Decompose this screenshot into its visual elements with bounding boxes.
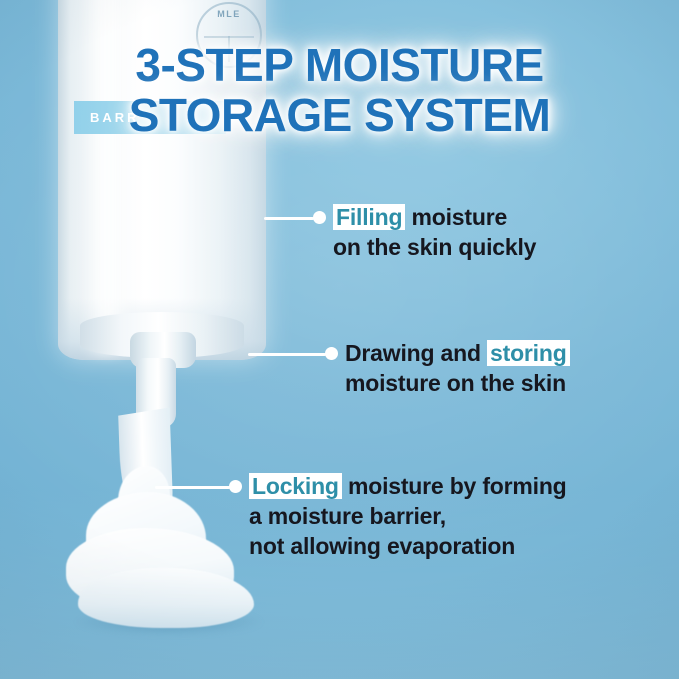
callout-3-highlight: Locking [249, 473, 342, 499]
callout-3-line-2: a moisture barrier, [249, 501, 567, 531]
callout-1-rest: moisture [405, 204, 507, 230]
leader-line-2 [248, 347, 338, 361]
leader-dot [229, 480, 242, 493]
callout-2-pre: Drawing and [345, 340, 487, 366]
leader-stroke [248, 353, 326, 356]
callout-1-highlight: Filling [333, 204, 405, 230]
callout-3-line-1: Locking moisture by forming [249, 471, 567, 501]
callout-2-line-2: moisture on the skin [345, 368, 570, 398]
callout-1-line-2: on the skin quickly [333, 232, 536, 262]
callout-1-line-1: Filling moisture [333, 202, 536, 232]
callout-step-1: Filling moisture on the skin quickly [333, 202, 536, 262]
leader-stroke [264, 217, 314, 220]
vignette-overlay [0, 0, 679, 679]
leader-line-1 [264, 211, 326, 225]
callout-3-rest: moisture by forming [342, 473, 567, 499]
callout-step-3: Locking moisture by forming a moisture b… [249, 471, 567, 561]
callout-2-line-1: Drawing and storing [345, 338, 570, 368]
callout-step-2: Drawing and storing moisture on the skin [345, 338, 570, 398]
leader-dot [313, 211, 326, 224]
promo-graphic: BARR MLE 3-STEP MOISTURE STORAGE SYSTEM … [0, 0, 679, 679]
leader-line-3 [155, 480, 242, 494]
callout-2-highlight: storing [487, 340, 570, 366]
leader-dot [325, 347, 338, 360]
callout-3-line-3: not allowing evaporation [249, 531, 567, 561]
leader-stroke [155, 486, 230, 489]
